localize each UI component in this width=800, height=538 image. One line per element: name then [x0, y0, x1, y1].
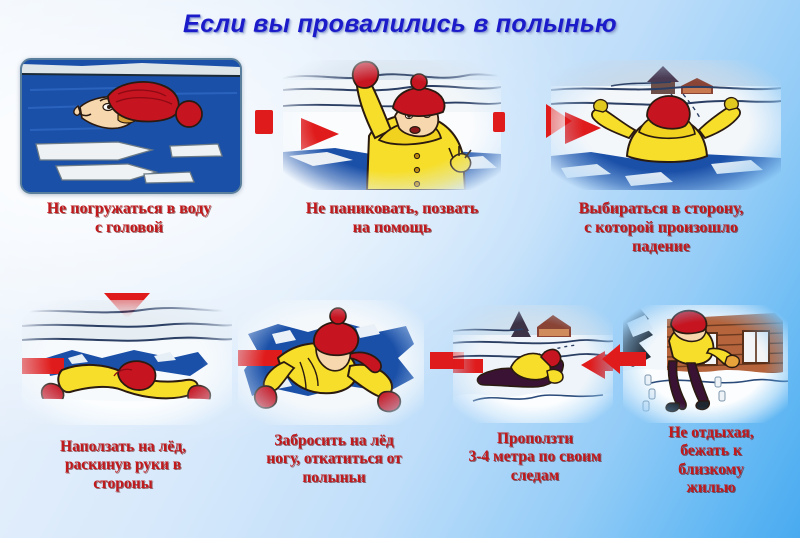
step-5-caption: Забросить на лёд ногу, откатиться от пол… [234, 432, 434, 487]
step-1-illustration [20, 58, 242, 194]
step-3-illustration [551, 60, 781, 190]
step-6-illustration [453, 305, 613, 423]
arrow-step2-to-step3 [493, 112, 505, 132]
step-5-illustration [238, 300, 424, 425]
step-7-caption: Не отдыхая, бежать к близкому жилью [630, 424, 792, 497]
page-title: Если вы провалились в полынью [0, 10, 800, 39]
arrow-step1-to-step2 [255, 110, 273, 134]
arrow-stub-icon [255, 110, 273, 134]
waving-for-help-icon [283, 60, 501, 190]
step-3-caption: Выбираться в сторону, с которой произошл… [528, 200, 794, 257]
step-6-caption: Проползти 3-4 метра по своим следам [442, 430, 628, 485]
step-4-illustration [22, 300, 232, 425]
exiting-hole-icon [551, 60, 781, 190]
crawling-arms-spread-icon [22, 300, 232, 425]
poster-canvas: Если вы провалились в полынью [0, 0, 800, 538]
leg-onto-ice-icon [238, 300, 424, 425]
step-1-caption: Не погружаться в воду с головой [8, 200, 250, 238]
step-2-illustration [283, 60, 501, 190]
step-7-illustration [623, 305, 788, 423]
running-to-house-icon [623, 305, 788, 423]
step-4-caption: Наползать на лёд, раскинув руки в сторон… [14, 438, 232, 493]
head-above-water-icon [22, 60, 240, 192]
arrow-stub-icon [493, 112, 505, 132]
step-2-caption: Не паниковать, позвать на помощь [268, 200, 516, 238]
arrow-left-icon [600, 342, 646, 376]
arrow-step7-to-step6 [600, 342, 646, 376]
crawling-along-tracks-icon [453, 305, 613, 423]
